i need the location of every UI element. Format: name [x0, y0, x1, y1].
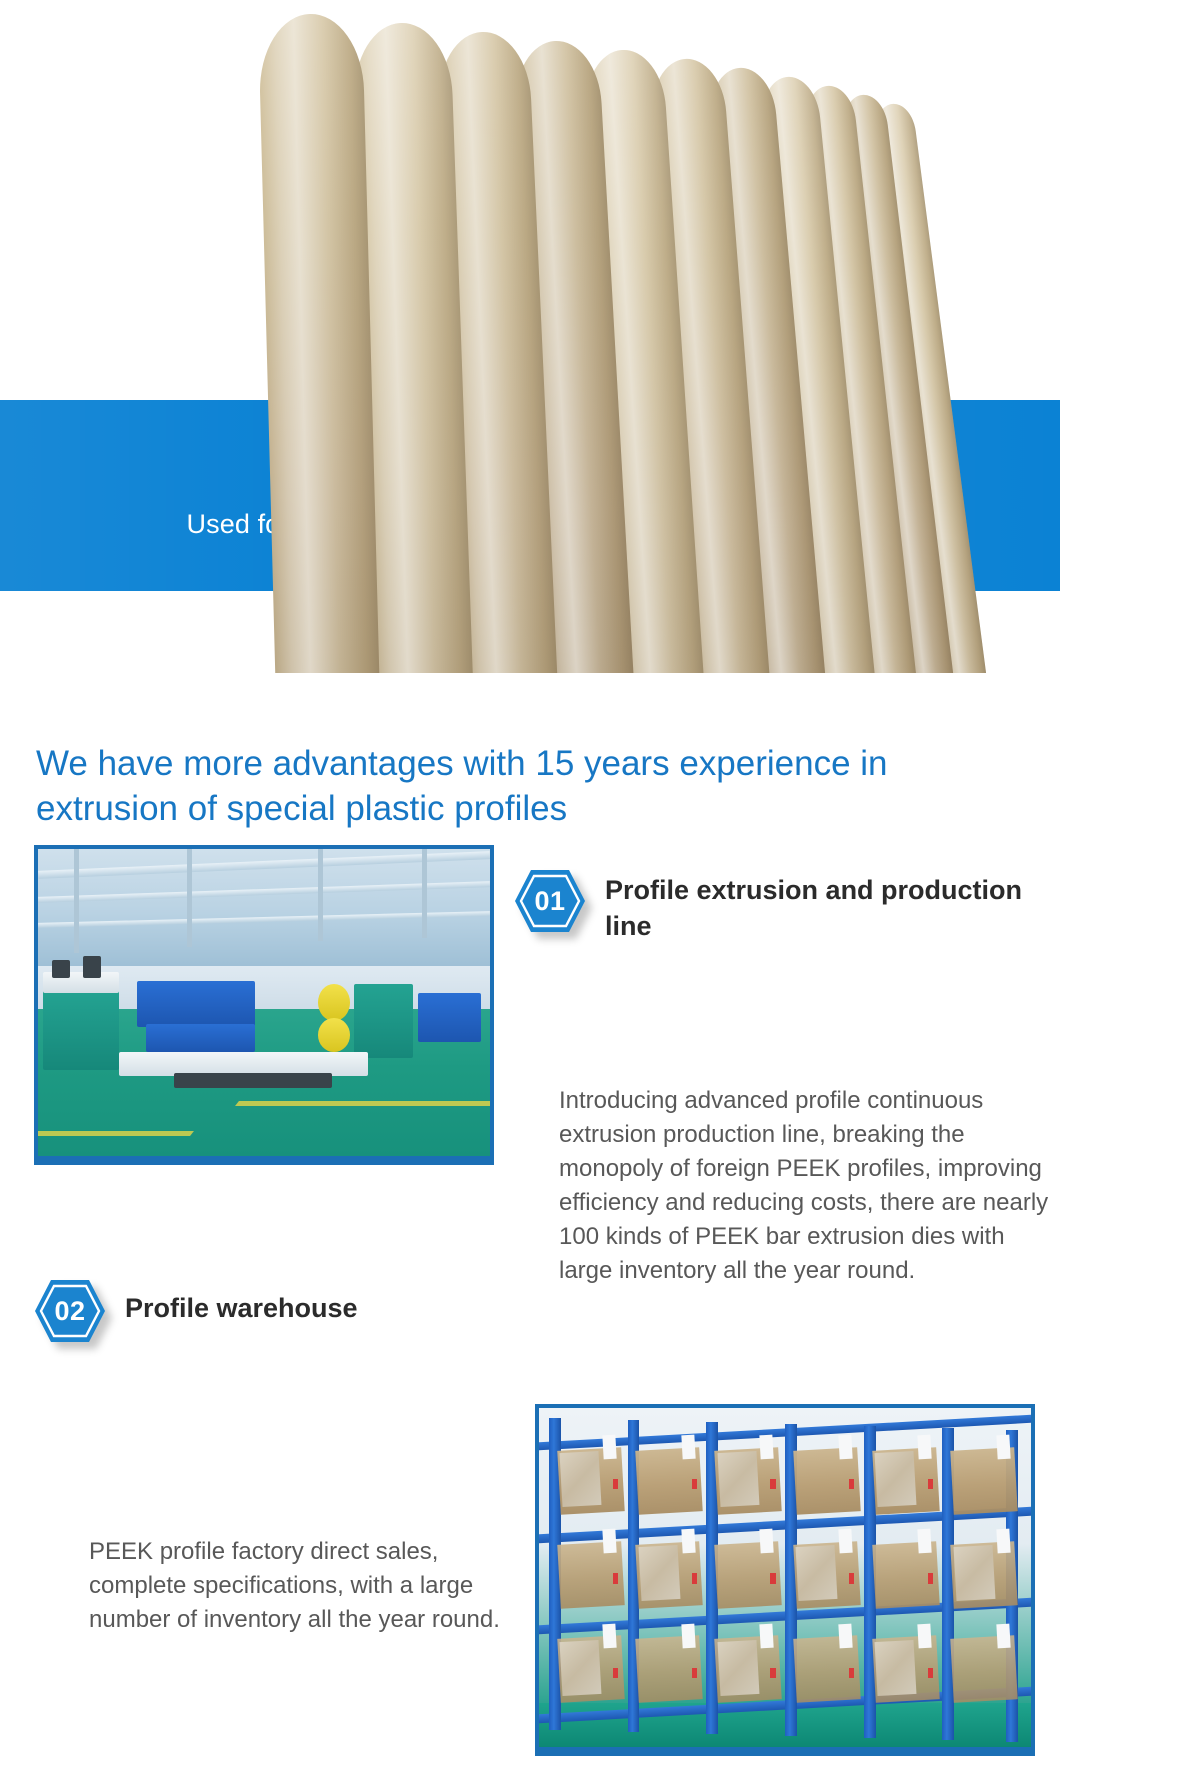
machine-unit [318, 984, 350, 1021]
machine-unit [83, 956, 101, 977]
ceiling-strut [74, 849, 79, 953]
rod-bundle-wrap [560, 1639, 602, 1695]
rod-bundle-wrap [717, 1639, 759, 1695]
shelf-label [996, 1435, 1010, 1459]
rack-marker [613, 1668, 618, 1678]
rack-marker [849, 1479, 854, 1489]
feature-01-body: Introducing advanced profile continuous … [559, 1084, 1059, 1288]
rod-bundle-wrap [875, 1639, 917, 1695]
rod-bundle-wrap [875, 1451, 917, 1507]
floor-line [34, 1131, 194, 1136]
rod-bundle-wrap [638, 1545, 680, 1601]
rod-bundle-wrap [560, 1451, 602, 1507]
shelf-label [917, 1623, 931, 1647]
floor-line [235, 1101, 494, 1106]
rack-marker [928, 1668, 933, 1678]
machine-unit [418, 993, 481, 1042]
machine-unit [137, 981, 255, 1027]
shelf-label [996, 1529, 1010, 1553]
shelf-label [602, 1623, 616, 1647]
machine-base [174, 1073, 332, 1088]
rack-marker [770, 1479, 775, 1489]
feature-01-image [34, 845, 494, 1165]
peek-rod [258, 13, 380, 673]
section-headline: We have more advantages with 15 years ex… [36, 742, 1036, 832]
rod-bundle-wrap [953, 1545, 995, 1601]
rod-bundle-wrap [796, 1545, 838, 1601]
shelf-label [838, 1435, 852, 1459]
shelf-label [917, 1435, 931, 1459]
shelf-label [681, 1435, 695, 1459]
feature-02-image [535, 1404, 1035, 1756]
shelf-label [917, 1529, 931, 1553]
feature-01-number-badge: 01 [513, 868, 587, 934]
machine-unit [52, 960, 70, 978]
rack-marker [613, 1479, 618, 1489]
feature-01-title: Profile extrusion and production line [605, 866, 1057, 945]
feature-01-heading-row: 01 Profile extrusion and production line [513, 866, 1065, 945]
ceiling-strut [187, 849, 192, 947]
product-detail-page: PEEK rods Used for processing PEEK parts… [0, 0, 1200, 1787]
machine-unit [354, 984, 413, 1058]
rack-marker [849, 1668, 854, 1678]
rack-marker [613, 1573, 618, 1583]
rod-bundle-wrap [717, 1451, 759, 1507]
shelf-label [602, 1529, 616, 1553]
shelf-label [838, 1623, 852, 1647]
feature-02-title: Profile warehouse [125, 1276, 505, 1326]
machine-unit [43, 990, 120, 1070]
shelf-label [681, 1529, 695, 1553]
rack-marker [928, 1573, 933, 1583]
feature-02-number-badge: 02 [33, 1278, 107, 1344]
rack-marker [692, 1573, 697, 1583]
feature-02-number: 02 [33, 1278, 107, 1344]
shelf-label [760, 1435, 774, 1459]
ceiling-strut [422, 849, 427, 938]
ceiling-strut [318, 849, 323, 941]
rack-marker [928, 1479, 933, 1489]
shelf-label [681, 1623, 695, 1647]
shelf-label [602, 1435, 616, 1459]
feature-02-body: PEEK profile factory direct sales, compl… [89, 1535, 529, 1637]
feature-01-number: 01 [513, 868, 587, 934]
shelf-label [996, 1623, 1010, 1647]
shelf-label [760, 1529, 774, 1553]
rack-marker [849, 1573, 854, 1583]
shelf-label [760, 1623, 774, 1647]
rack-marker [692, 1668, 697, 1678]
warehouse-racking [539, 1408, 1031, 1747]
machine-unit [146, 1024, 254, 1052]
feature-02-heading-row: 02 Profile warehouse [33, 1276, 533, 1344]
rack-marker [692, 1479, 697, 1489]
machine-unit [318, 1018, 350, 1052]
shelf-label [838, 1529, 852, 1553]
rack-marker [770, 1573, 775, 1583]
hero-section: PEEK rods Used for processing PEEK parts… [0, 0, 1060, 673]
rack-marker [770, 1668, 775, 1678]
